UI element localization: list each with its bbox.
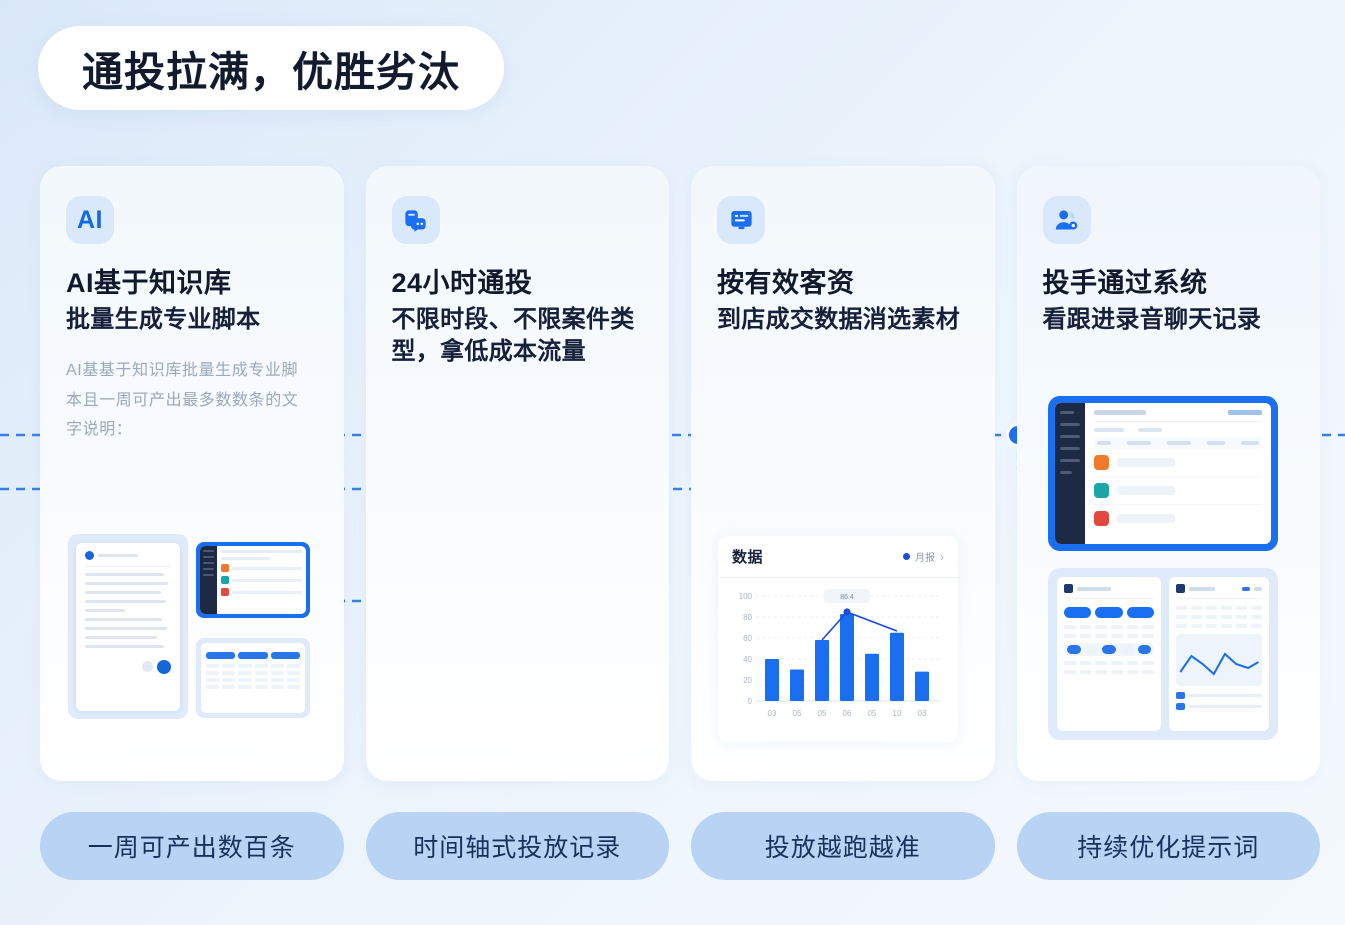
svg-text:0: 0 bbox=[748, 697, 753, 706]
chart-trend-line bbox=[822, 612, 897, 640]
crm-sidebar bbox=[1055, 403, 1085, 544]
chart-annotation-label: 86.4 bbox=[840, 594, 854, 601]
svg-text:06: 06 bbox=[843, 709, 852, 718]
analytics-footer bbox=[1176, 703, 1262, 710]
crm-table-row bbox=[1094, 505, 1262, 532]
calendar-analytics-mockup bbox=[1048, 568, 1278, 740]
page-title-text: 通投拉满，优胜劣汰 bbox=[82, 38, 460, 98]
tablet-list-item bbox=[221, 576, 302, 584]
dashboard-grid bbox=[206, 664, 300, 689]
tablet-list-item bbox=[221, 588, 302, 596]
chart-svg: 1008060 40200 86.4 bbox=[728, 586, 948, 728]
footer-pill-row: 一周可产出数百条 时间轴式投放记录 投放越跑越准 持续优化提示词 bbox=[40, 812, 1320, 880]
document-header-line bbox=[98, 554, 138, 557]
analytics-line-chart bbox=[1176, 634, 1262, 686]
footer-pill-label: 时间轴式投放记录 bbox=[413, 828, 621, 864]
legend-label: 月报 bbox=[915, 549, 935, 564]
crm-header bbox=[1094, 410, 1262, 422]
analytics-sparkline bbox=[1176, 634, 1262, 686]
card-title: 24小时通投 bbox=[392, 266, 644, 301]
document-line bbox=[85, 627, 167, 630]
card-subtitle: 不限时段、不限案件类型，拿低成本流量 bbox=[392, 304, 644, 368]
footer-pill-2[interactable]: 时间轴式投放记录 bbox=[366, 812, 670, 880]
document-footer bbox=[85, 660, 171, 674]
dashboard-screen bbox=[201, 643, 305, 713]
feature-card-24h[interactable]: 24小时通投 不限时段、不限案件类型，拿低成本流量 bbox=[366, 166, 670, 781]
ai-badge-label: AI bbox=[77, 206, 103, 235]
screen-report-icon bbox=[717, 196, 765, 244]
schedule-grid bbox=[1064, 661, 1154, 674]
card-body-text: AI基基于知识库批量生成专业脚本且一周可产出最多数数条的文字说明： bbox=[66, 356, 311, 445]
footer-pill-3[interactable]: 投放越跑越准 bbox=[691, 812, 995, 880]
tablet-mockup bbox=[196, 542, 310, 618]
poster-canvas: 通投拉满，优胜劣汰 AI AI基于知识库 批量生成专业脚本 AI基基于知识库批量… bbox=[0, 0, 1345, 925]
user-settings-icon bbox=[1043, 196, 1091, 244]
crm-content bbox=[1085, 403, 1271, 544]
chart-widget-header: 数据 月报 › bbox=[718, 536, 958, 578]
data-chart-widget[interactable]: 数据 月报 › 1008060 bbox=[718, 536, 958, 742]
document-line bbox=[85, 582, 168, 585]
broadcast-chat-icon bbox=[392, 196, 440, 244]
chart-widget-title: 数据 bbox=[732, 546, 763, 567]
schedule-header bbox=[1064, 584, 1154, 599]
tablet-sidebar bbox=[200, 546, 217, 614]
crm-table-row bbox=[1094, 477, 1262, 505]
legend-dot-icon bbox=[903, 553, 910, 560]
dashboard-mockup bbox=[196, 638, 310, 718]
document-header bbox=[85, 551, 171, 567]
analytics-panel bbox=[1169, 577, 1269, 731]
card-subtitle: 看跟进录音聊天记录 bbox=[1043, 304, 1295, 336]
footer-pill-label: 一周可产出数百条 bbox=[88, 828, 296, 864]
analytics-footer bbox=[1176, 692, 1262, 699]
user-settings-glyph bbox=[1053, 207, 1080, 234]
chart-peak-point bbox=[843, 608, 850, 615]
chart-bars bbox=[765, 614, 929, 701]
svg-text:100: 100 bbox=[739, 592, 753, 601]
crm-tablet-mockup bbox=[1048, 396, 1278, 551]
card-title: AI基于知识库 bbox=[66, 266, 318, 301]
svg-text:03: 03 bbox=[768, 709, 777, 718]
chevron-right-icon[interactable]: › bbox=[940, 550, 944, 564]
analytics-grid bbox=[1176, 606, 1262, 628]
tablet-content bbox=[217, 546, 306, 614]
tablet-screen bbox=[200, 546, 306, 614]
svg-text:03: 03 bbox=[918, 709, 927, 718]
svg-text:10: 10 bbox=[893, 709, 902, 718]
schedule-grid bbox=[1064, 625, 1154, 638]
crm-screen bbox=[1055, 403, 1271, 544]
tablet-toolbar bbox=[221, 550, 302, 553]
dashboard-buttons bbox=[206, 652, 300, 659]
tablet-toolbar bbox=[221, 557, 270, 560]
chart-y-ticks: 1008060 40200 bbox=[739, 592, 753, 706]
brand-dot-icon bbox=[85, 551, 94, 560]
footer-pill-label: 持续优化提示词 bbox=[1077, 828, 1259, 864]
ghost-dot-icon bbox=[142, 661, 153, 672]
page-title: 通投拉满，优胜劣汰 bbox=[38, 26, 504, 110]
document-page bbox=[76, 543, 180, 711]
document-line bbox=[85, 645, 164, 648]
broadcast-chat-glyph bbox=[402, 207, 429, 234]
card-title: 按有效客资 bbox=[717, 266, 969, 301]
crm-table-header bbox=[1094, 437, 1262, 449]
svg-text:05: 05 bbox=[868, 709, 877, 718]
document-line bbox=[85, 600, 166, 603]
crm-table-row bbox=[1094, 449, 1262, 477]
document-line bbox=[85, 636, 157, 639]
svg-text:05: 05 bbox=[793, 709, 802, 718]
svg-text:60: 60 bbox=[743, 634, 752, 643]
crm-tabs bbox=[1094, 428, 1262, 432]
svg-text:40: 40 bbox=[743, 655, 752, 664]
chart-plot-area: 1008060 40200 86.4 bbox=[718, 578, 958, 728]
svg-text:20: 20 bbox=[743, 676, 752, 685]
accent-dot-icon bbox=[157, 660, 171, 674]
card-subtitle: 批量生成专业脚本 bbox=[66, 304, 318, 336]
svg-text:80: 80 bbox=[743, 613, 752, 622]
analytics-header bbox=[1176, 584, 1262, 599]
card-title: 投手通过系统 bbox=[1043, 266, 1295, 301]
footer-pill-label: 投放越跑越准 bbox=[765, 828, 921, 864]
tablet-list-item bbox=[221, 564, 302, 572]
footer-pill-4[interactable]: 持续优化提示词 bbox=[1017, 812, 1321, 880]
schedule-filter-buttons bbox=[1064, 607, 1154, 618]
chart-x-ticks: 03 05 05 06 05 10 03 bbox=[768, 709, 927, 718]
ai-badge-icon: AI bbox=[66, 196, 114, 244]
card-subtitle: 到店成交数据消选素材 bbox=[717, 304, 969, 336]
schedule-selected-row bbox=[1064, 643, 1154, 656]
document-line bbox=[85, 573, 164, 576]
document-line bbox=[85, 591, 161, 594]
footer-pill-1[interactable]: 一周可产出数百条 bbox=[40, 812, 344, 880]
document-line bbox=[85, 609, 125, 612]
document-line bbox=[85, 618, 162, 621]
svg-text:05: 05 bbox=[818, 709, 827, 718]
chart-legend[interactable]: 月报 › bbox=[903, 549, 944, 564]
schedule-panel bbox=[1057, 577, 1161, 731]
screen-report-glyph bbox=[728, 207, 755, 234]
document-mockup bbox=[68, 534, 188, 719]
